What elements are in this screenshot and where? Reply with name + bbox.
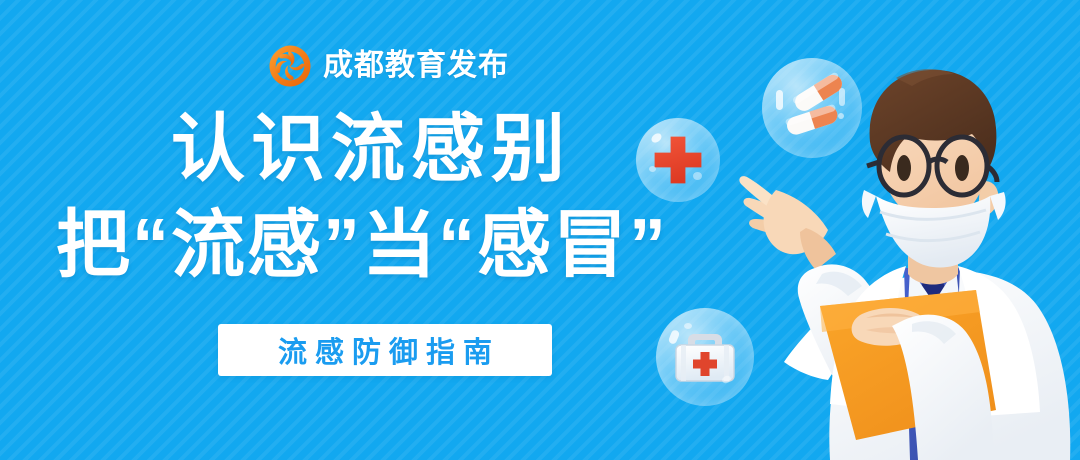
bubble-highlight	[649, 166, 656, 172]
headline-block: 认识流感别 把“流感”当“感冒”	[0, 112, 720, 282]
open-hand	[739, 176, 836, 270]
flu-guide-banner: 成都教育发布 认识流感别 把“流感”当“感冒” 流感防御指南	[0, 0, 1080, 460]
headline-line-1: 认识流感别	[0, 112, 720, 186]
eye	[897, 155, 911, 181]
doctor-head	[862, 69, 1006, 267]
headline-line-2: 把“流感”当“感冒”	[0, 208, 720, 282]
brand-name: 成都教育发布	[323, 51, 509, 81]
doctor-illustration	[690, 62, 1080, 460]
brand-lockup: 成都教育发布	[268, 42, 509, 90]
subtitle-plaque: 流感防御指南	[218, 324, 552, 376]
subtitle-text: 流感防御指南	[270, 329, 500, 371]
orange-swirl-ring-icon	[268, 44, 312, 88]
eye	[955, 155, 969, 181]
